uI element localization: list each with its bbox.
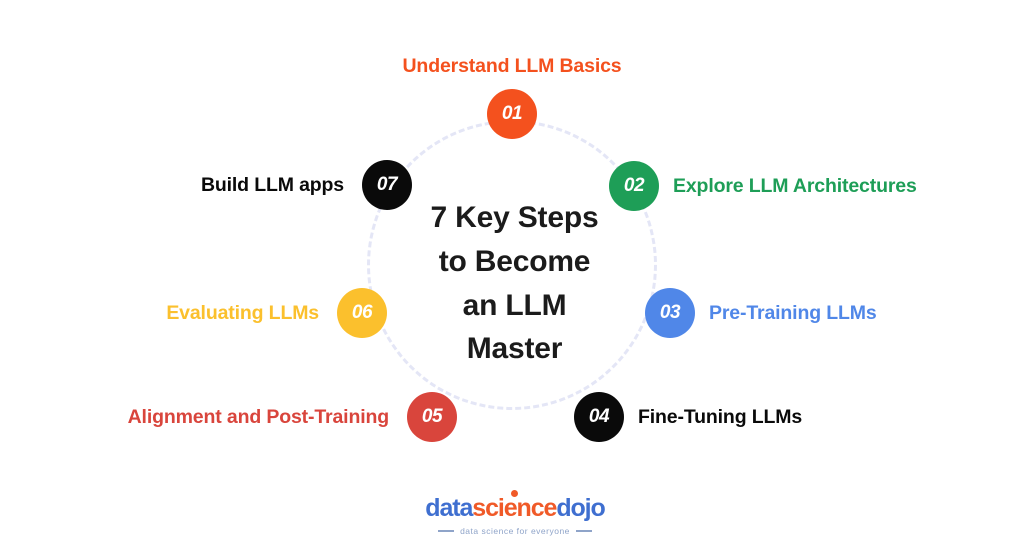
step-badge-02: 02 <box>609 161 659 211</box>
step-item-04[interactable]: 04 Fine-Tuning LLMs <box>574 392 802 442</box>
step-item-03[interactable]: 03 Pre-Training LLMs <box>645 288 877 338</box>
step-label-03: Pre-Training LLMs <box>709 302 877 325</box>
step-item-07[interactable]: Build LLM apps 07 <box>201 160 412 210</box>
step-badge-01: 01 <box>487 89 537 139</box>
brand-logo: datasciencedojo data science for everyon… <box>0 496 1030 536</box>
step-badge-06: 06 <box>337 288 387 338</box>
page-title-line-2: to Become <box>392 240 637 284</box>
step-item-05[interactable]: Alignment and Post-Training 05 <box>128 392 457 442</box>
step-badge-04: 04 <box>574 392 624 442</box>
page-title-line-1: 7 Key Steps <box>392 196 637 240</box>
step-badge-07: 07 <box>362 160 412 210</box>
tagline-rule-left-icon <box>438 530 454 532</box>
step-label-06: Evaluating LLMs <box>166 302 319 325</box>
tagline-text: data science for everyone <box>460 526 570 536</box>
step-label-02: Explore LLM Architectures <box>673 175 917 198</box>
step-label-01: Understand LLM Basics <box>403 55 622 78</box>
infographic-canvas: 7 Key Steps to Become an LLM Master 01 U… <box>0 0 1030 554</box>
step-badge-05: 05 <box>407 392 457 442</box>
step-label-05: Alignment and Post-Training <box>128 406 389 429</box>
brand-logo-wordmark: datasciencedojo <box>425 496 604 521</box>
brand-logo-tagline: data science for everyone <box>438 526 592 536</box>
brand-logo-data: data <box>425 494 472 522</box>
brand-logo-science: science <box>472 494 556 522</box>
step-item-02[interactable]: 02 Explore LLM Architectures <box>609 161 917 211</box>
step-item-06[interactable]: Evaluating LLMs 06 <box>166 288 387 338</box>
page-title-line-4: Master <box>392 327 637 371</box>
step-item-01[interactable]: 01 Understand LLM Basics <box>382 55 642 139</box>
step-label-04: Fine-Tuning LLMs <box>638 406 802 429</box>
brand-logo-dojo: dojo <box>556 494 604 522</box>
step-badge-03: 03 <box>645 288 695 338</box>
tagline-rule-right-icon <box>576 530 592 532</box>
page-title: 7 Key Steps to Become an LLM Master <box>392 196 637 371</box>
step-label-07: Build LLM apps <box>201 174 344 197</box>
page-title-line-3: an LLM <box>392 284 637 328</box>
